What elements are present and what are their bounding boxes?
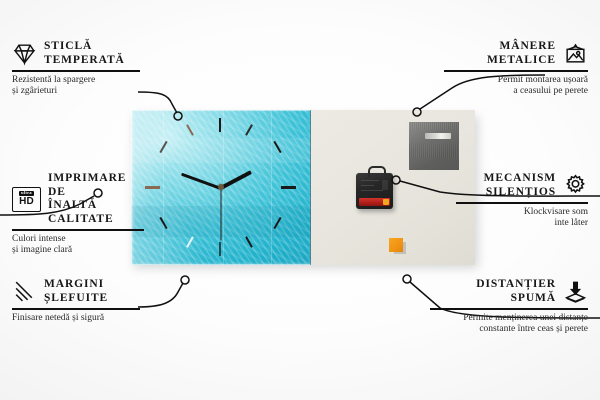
battery-terminal (383, 199, 389, 205)
callout-rule (430, 308, 588, 310)
callout-subtitle: Rezistentă la spargere și zgârieturi (12, 75, 140, 97)
callout-foam-spacer[interactable]: DISTANȚIER SPUMĂ Permite menținerea unei… (430, 278, 588, 335)
callout-header: MARGINI ȘLEFUITE (12, 278, 140, 305)
callout-subtitle: Culori intense și imagine clară (12, 234, 144, 256)
callout-header: DISTANȚIER SPUMĂ (430, 278, 588, 305)
callout-subtitle: Finisare netedă și sigură (12, 313, 140, 324)
callout-rule (456, 202, 588, 204)
callout-header: STICLĂ TEMPERATĂ (12, 40, 140, 67)
callout-header: ultra HD IMPRIMARE DE ÎNALTĂ CALITATE (12, 172, 144, 226)
callout-subtitle: Permite menținerea unei distanțe constan… (430, 313, 588, 335)
callout-title: MARGINI ȘLEFUITE (44, 278, 108, 305)
down-arrow-pad-icon (563, 279, 588, 304)
hanger-keyhole-slot (425, 133, 451, 139)
mechanism-hanger-loop (368, 166, 386, 177)
callout-subtitle: Klockvisare som inte låter (456, 207, 588, 229)
callout-polished-edges[interactable]: MARGINI ȘLEFUITE Finisare netedă și sigu… (12, 278, 140, 324)
callout-silent-mechanism[interactable]: MECANISM SILENȚIOS Klockvisare som inte … (456, 172, 588, 229)
callout-rule (12, 229, 144, 231)
callout-rule (444, 70, 588, 72)
product-image (131, 110, 475, 265)
clock-mechanism (356, 173, 393, 209)
callout-title: STICLĂ TEMPERATĂ (44, 40, 125, 67)
callout-high-quality-print[interactable]: ultra HD IMPRIMARE DE ÎNALTĂ CALITATE Cu… (12, 172, 144, 256)
callout-tempered-glass[interactable]: STICLĂ TEMPERATĂ Rezistentă la spargere … (12, 40, 140, 97)
diamond-icon (12, 41, 37, 66)
ultra-hd-icon: ultra HD (12, 187, 41, 212)
foam-spacer-block (389, 238, 403, 252)
mechanism-detail (361, 185, 374, 186)
infographic-canvas: STICLĂ TEMPERATĂ Rezistentă la spargere … (0, 0, 600, 400)
callout-metal-handles[interactable]: MÂNERE METALICE Permit montarea ușoară a… (444, 40, 588, 97)
callout-header: MECANISM SILENȚIOS (456, 172, 588, 199)
callout-header: MÂNERE METALICE (444, 40, 588, 67)
diagonal-lines-icon (12, 279, 37, 304)
glass-edge-highlight (131, 110, 311, 265)
mechanism-detail (361, 190, 383, 191)
callout-title: MECANISM SILENȚIOS (484, 172, 556, 199)
callout-title: IMPRIMARE DE ÎNALTĂ CALITATE (48, 172, 144, 226)
metal-hanger-plate (409, 122, 459, 170)
gear-icon (563, 173, 588, 198)
clock-battery (359, 198, 390, 206)
callout-subtitle: Permit montarea ușoară a ceasului pe per… (444, 75, 588, 97)
callout-title: DISTANȚIER SPUMĂ (476, 278, 556, 305)
callout-rule (12, 70, 140, 72)
mechanism-detail (382, 180, 388, 190)
callout-title: MÂNERE METALICE (487, 40, 556, 67)
clock-back-panel (311, 110, 475, 265)
mechanism-detail (361, 180, 379, 181)
framed-picture-icon (563, 41, 588, 66)
callout-rule (12, 308, 140, 310)
